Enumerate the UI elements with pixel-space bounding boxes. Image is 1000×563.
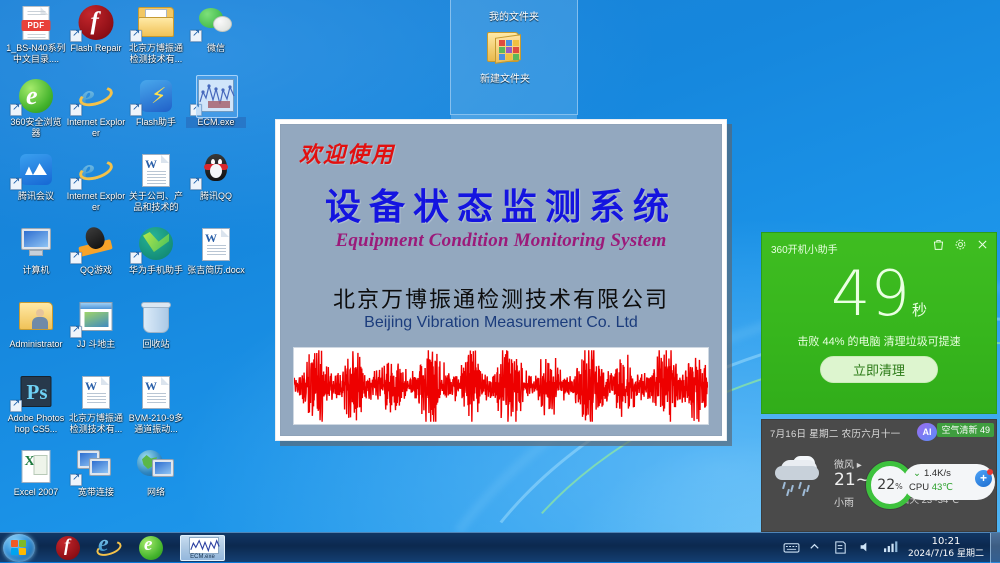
desktop-icon-tencent-meeting[interactable]: 腾讯会议 [6,152,66,202]
desktop-icon-label: 360安全浏览器 [6,117,66,138]
desktop-icon-label: Flash助手 [126,117,186,128]
boot-seconds: 49秒 [762,263,996,341]
shortcut-arrow-icon [70,30,82,42]
boot-widget-controls [932,238,989,254]
desktop-icon-label: Flash Repair [66,43,126,54]
desktop-icon-label: 1_BS-N40系列中文目录.... [6,43,66,64]
show-desktop-button[interactable] [990,533,1000,563]
desktop-icon-jj-landlord[interactable]: JJ 斗地主 [66,300,126,350]
boot-seconds-unit: 秒 [912,301,927,319]
desktop-icon-label: 腾讯会议 [6,191,66,202]
shortcut-arrow-icon [70,252,82,264]
explorer-list-item[interactable]: 新建文件夹 [471,28,539,85]
shortcut-arrow-icon [70,474,82,486]
shortcut-arrow-icon [70,326,82,338]
chevron-down-icon: ⌄ [913,468,921,479]
cpu-usage-unit: % [895,482,903,491]
desktop-icon-broadband-connection[interactable]: 宽带连接 [66,448,126,498]
company-name-english: Beijing Vibration Measurement Co. Ltd [281,314,721,332]
word-document-icon: W [126,374,186,412]
desktop-icon-label: 北京万博振通检测技术有... [66,413,126,434]
shortcut-arrow-icon [10,178,22,190]
desktop-icon-label: Administrator [6,339,66,350]
desktop-icon-label: 微信 [186,43,246,54]
internet-explorer-icon: e [66,78,126,116]
desktop-icon-label: QQ游戏 [66,265,126,276]
internet-explorer-icon: e [66,152,126,190]
boot-seconds-value: 49 [831,257,910,330]
add-widget-button[interactable]: + [975,470,992,487]
computer-icon [6,226,66,264]
flash-repair-icon: f [66,4,126,42]
desktop-icon-company-doc[interactable]: W 关于公司、产品和技术的介... [126,152,186,213]
jj-landlord-icon [66,300,126,338]
volume-icon[interactable] [858,540,875,557]
desktop-icon-ecm-exe[interactable]: ECM.exe [186,78,246,128]
gear-icon[interactable] [954,238,967,254]
open-folder-icon [483,28,527,68]
shortcut-arrow-icon [190,104,202,116]
explorer-window-title: 我的文件夹 [451,8,577,23]
desktop-icon-360-browser[interactable]: e 360安全浏览器 [6,78,66,138]
desktop-icon-label: ECM.exe [186,117,246,128]
desktop-icon-resume-docx[interactable]: W 张吉简历.docx [186,226,246,276]
ai-badge[interactable]: AI [917,423,937,441]
desktop-icon-label: Adobe Photoshop CS5... [6,413,66,434]
desktop-icon-wechat[interactable]: 微信 [186,4,246,54]
desktop-icon-network[interactable]: 网络 [126,448,186,498]
desktop-icon-label: Internet Explorer [66,117,126,138]
desktop-icon-label: Internet Explorer [66,191,126,212]
ecm-application-icon [189,537,219,554]
taskbar-clock[interactable]: 10:21 2024/7/16 星期二 [904,536,988,560]
ecm-splash-body: 欢迎使用 设备状态监测系统 Equipment Condition Monito… [280,124,722,436]
taskbar-flash-repair-icon[interactable]: f [55,536,81,560]
cpu-temp-value: 43℃ [932,482,953,493]
close-icon[interactable] [976,238,989,254]
weather-date-line: 7月16日 星期二 农历六月十一 [770,426,900,440]
windows-logo-icon [11,540,27,556]
desktop-icon-label: 北京万博振通检测技术有... [126,43,186,64]
desktop-icon-huawei-assistant[interactable]: 华为手机助手 [126,226,186,276]
ecm-splash-window[interactable]: 欢迎使用 设备状态监测系统 Equipment Condition Monito… [275,119,727,441]
shortcut-arrow-icon [70,178,82,190]
desktop-icon-label: 回收站 [126,339,186,350]
tencent-meeting-icon [6,152,66,190]
boot-widget-title: 360开机小助手 [771,241,838,256]
weather-system-widget[interactable]: 7月16日 星期二 农历六月十一 AI 空气清新 49 微风 ▸ 21~31 小… [761,419,997,532]
desktop-icon-label: BVM-210-9多通道振动... [126,413,186,434]
desktop-icon-label: JJ 斗地主 [66,339,126,350]
network-speed-value: 1.4K/s [924,468,951,479]
excel-icon: X [6,448,66,486]
network-status-pill[interactable]: ⌄1.4K/s CPU 43℃ + [903,464,995,500]
browser-360-icon: e [6,78,66,116]
desktop-icon-label: 腾讯QQ [186,191,246,202]
rain-cloud-icon [775,456,827,496]
desktop-icon-label: 关于公司、产品和技术的介... [126,191,186,213]
desktop-icon-label: 网络 [126,487,186,498]
desktop-icon-internet-explorer-2[interactable]: e Internet Explorer [66,152,126,212]
ecm-application-icon [186,78,246,116]
company-name-chinese: 北京万博振通检测技术有限公司 [281,282,721,314]
welcome-text: 欢迎使用 [299,137,395,169]
app-title-english: Equipment Condition Monitoring System [281,230,721,252]
network-signal-icon[interactable] [883,540,900,557]
desktop-icon-bvm-folder[interactable]: 北京万博振通检测技术有... [126,4,186,64]
weather-condition: 小雨 [834,494,854,509]
taskbar-task-ecm[interactable]: ECM.exe [180,535,225,561]
clock-time: 10:21 [904,536,988,548]
shortcut-arrow-icon [130,30,142,42]
action-center-icon[interactable] [833,540,850,557]
shortcut-arrow-icon [10,400,22,412]
air-quality-badge: 空气清新 49 [937,423,994,437]
waveform-svg [294,348,708,424]
shortcut-arrow-icon [190,30,202,42]
qq-game-icon [66,226,126,264]
desktop-icon-administrator[interactable]: Administrator [6,300,66,350]
wechat-icon [186,4,246,42]
desktop-icon-label: 宽带连接 [66,487,126,498]
pdf-file-icon: PDF [6,4,66,42]
cpu-temp-row: CPU 43℃ [909,482,953,493]
desktop-icon-flash-repair[interactable]: f Flash Repair [66,4,126,54]
desktop-icon-recycle-bin[interactable]: 回收站 [126,300,186,350]
broadband-connection-icon [66,448,126,486]
taskbar-internet-explorer-icon[interactable]: e [96,536,122,560]
user-folder-icon [6,300,66,338]
boot-assistant-widget[interactable]: 360开机小助手 49秒 击败 44% 的电脑 清理垃圾可提速 立即清理 [761,232,997,414]
desktop-background[interactable]: PDF 1_BS-N40系列中文目录.... f Flash Repair 北京… [0,0,1000,533]
show-hidden-icons-icon[interactable] [808,540,825,557]
taskbar[interactable]: f e e ECM.exe [0,532,1000,562]
network-icon [126,448,186,486]
vibration-waveform-chart [293,347,709,425]
recycle-bin-icon [126,300,186,338]
desktop-icon-bvm210-doc[interactable]: W BVM-210-9多通道振动... [126,374,186,434]
clock-date: 2024/7/16 星期二 [904,548,988,560]
desktop-icon-photoshop[interactable]: Ps Adobe Photoshop CS5... [6,374,66,434]
huawei-assistant-icon [126,226,186,264]
start-button[interactable] [3,534,35,562]
desktop-icon-flash-assistant[interactable]: ⚡ Flash助手 [126,78,186,128]
clean-now-button[interactable]: 立即清理 [820,356,938,383]
desktop-icon-label: 计算机 [6,265,66,276]
shortcut-arrow-icon [190,178,202,190]
shortcut-arrow-icon [70,104,82,116]
cpu-usage-value: 22 [877,477,895,493]
desktop-icon-label: 华为手机助手 [126,265,186,276]
app-title-chinese: 设备状态监测系统 [281,178,721,230]
desktop-icon-tencent-qq[interactable]: 腾讯QQ [186,152,246,202]
word-document-icon: W [186,226,246,264]
cpu-temp-label: CPU [909,482,929,493]
word-document-icon: W [126,152,186,190]
system-tray[interactable]: 10:21 2024/7/16 星期二 [779,533,1000,563]
keyboard-ime-icon[interactable] [783,540,800,557]
desktop-icon-qq-game[interactable]: QQ游戏 [66,226,126,276]
desktop-icon-label: 张吉简历.docx [186,265,246,276]
desktop-icon-pdf-catalog[interactable]: PDF 1_BS-N40系列中文目录.... [6,4,66,64]
network-speed-row: ⌄1.4K/s [913,468,951,479]
boot-subtitle: 击败 44% 的电脑 清理垃圾可提速 [762,333,996,349]
shortcut-arrow-icon [130,252,142,264]
desktop-icon-excel-2007[interactable]: X Excel 2007 [6,448,66,498]
explorer-item-label: 新建文件夹 [471,70,539,85]
trash-icon[interactable] [932,238,945,254]
taskbar-task-label: ECM.exe [181,554,224,560]
shortcut-arrow-icon [130,104,142,116]
desktop-icon-label: Excel 2007 [6,487,66,498]
tencent-qq-icon [186,152,246,190]
word-document-icon: W [66,374,126,412]
desktop-icon-internet-explorer[interactable]: e Internet Explorer [66,78,126,138]
desktop-icon-bvm-doc[interactable]: W 北京万博振通检测技术有... [66,374,126,434]
folder-icon [126,4,186,42]
shortcut-arrow-icon [10,104,22,116]
flash-assistant-icon: ⚡ [126,78,186,116]
desktop-icon-computer[interactable]: 计算机 [6,226,66,276]
wind-label: 微风 ▸ [834,456,862,471]
taskbar-360-browser-icon[interactable]: e [138,536,164,560]
photoshop-icon: Ps [6,374,66,412]
explorer-window[interactable]: 我的文件夹 新建文件夹 [450,0,578,115]
